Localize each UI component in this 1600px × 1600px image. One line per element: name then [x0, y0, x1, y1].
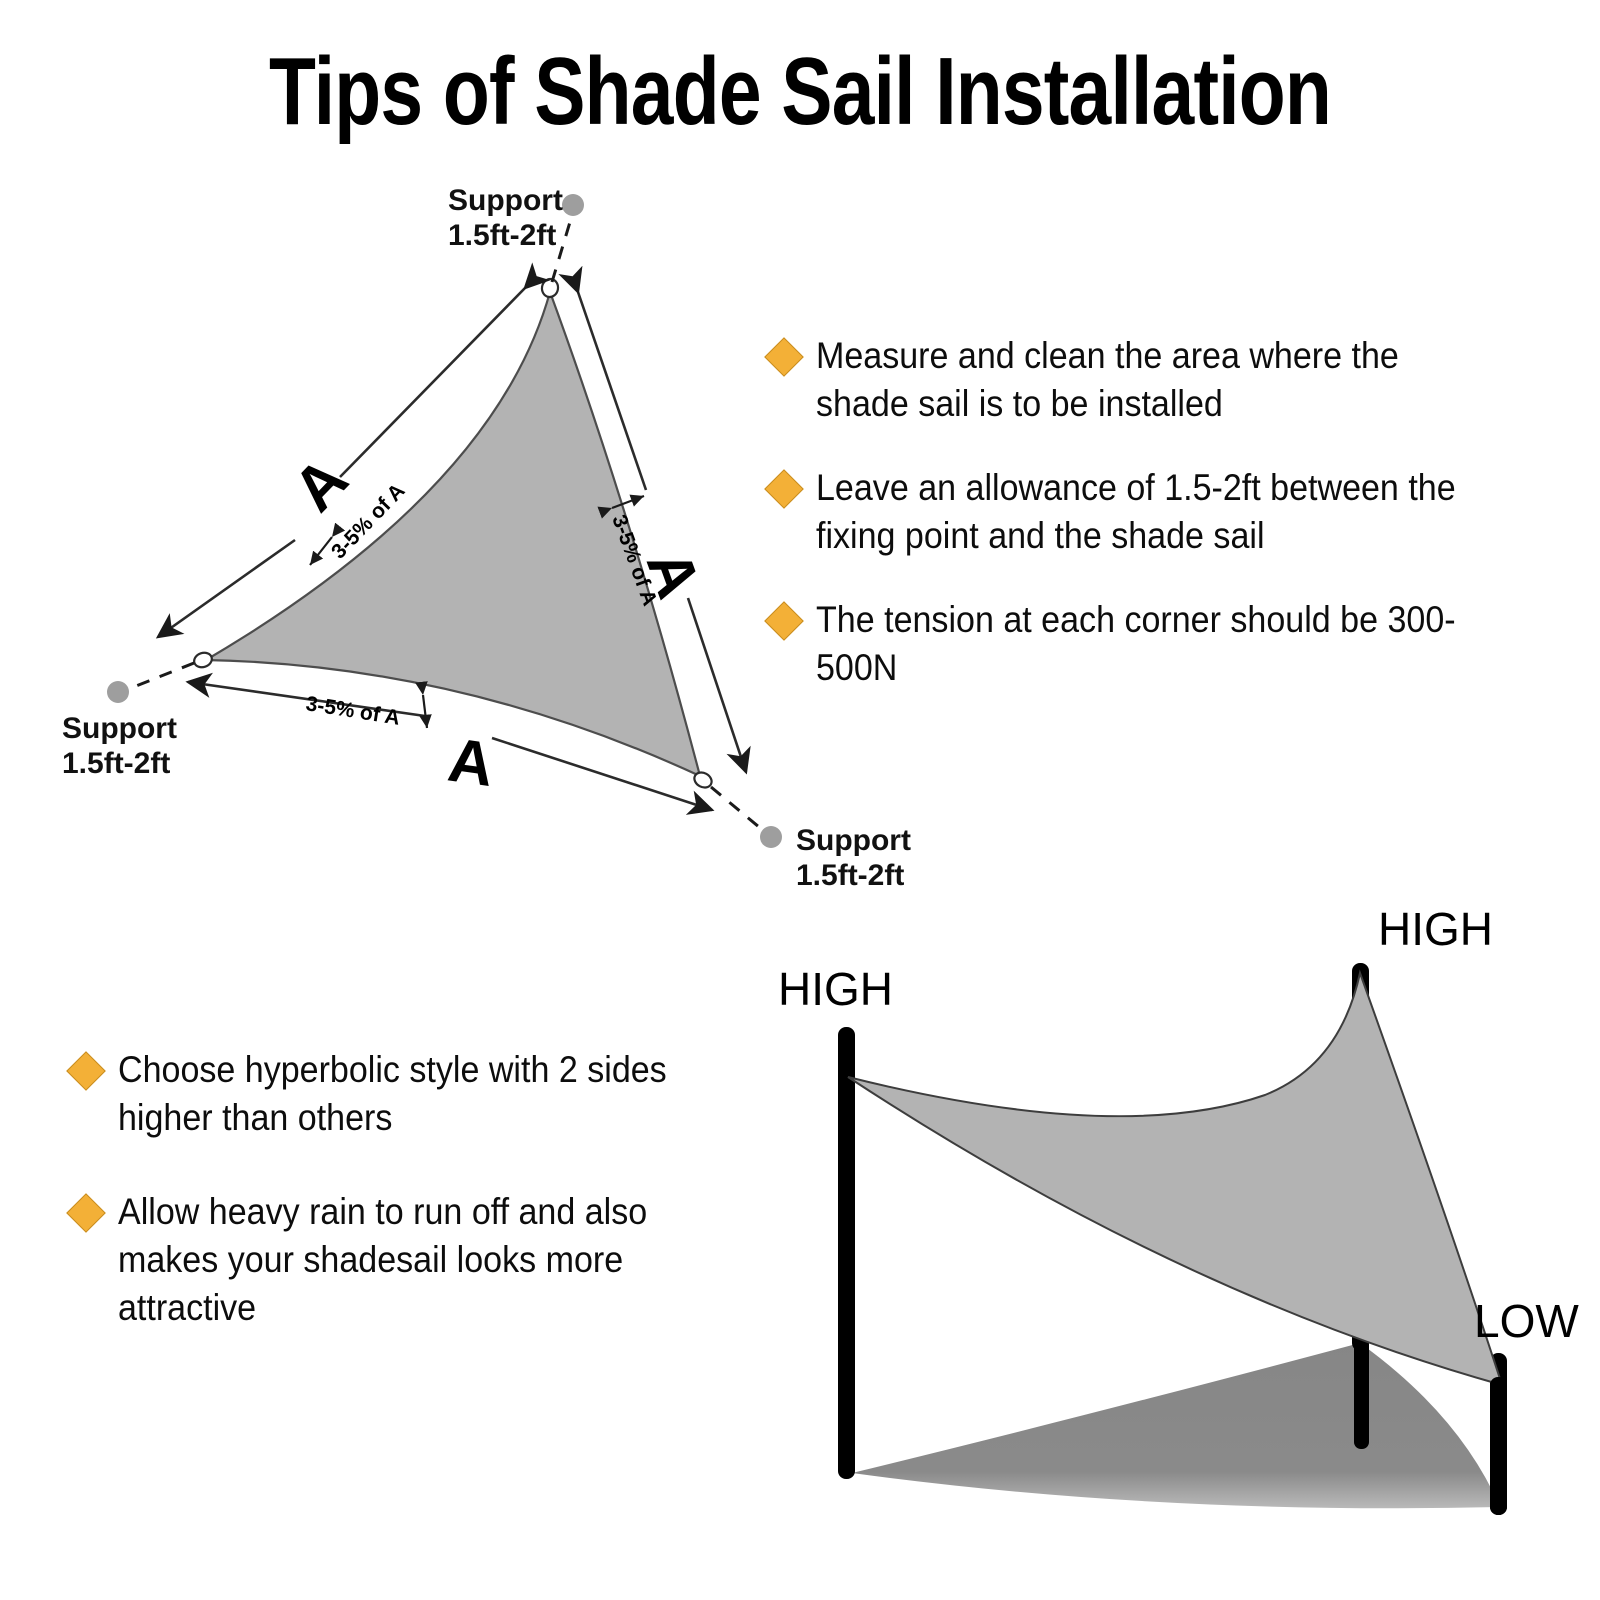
diamond-bullet-icon	[66, 1193, 106, 1233]
support-bottom-line1: Support	[796, 824, 911, 857]
support-dot-bottom	[760, 826, 782, 848]
post-label-high-right: HIGH	[1378, 903, 1493, 955]
tips-list-right: Measure and clean the area where the sha…	[770, 332, 1530, 729]
post-label-high-left: HIGH	[778, 963, 893, 1015]
corner-fitting-top	[541, 278, 560, 299]
dim-right-arrow-lower	[688, 598, 746, 772]
support-top-line1: Support	[448, 184, 563, 217]
infographic-page: Tips of Shade Sail Installation	[0, 0, 1600, 1600]
dim-left-label-A: A	[280, 445, 361, 525]
diamond-bullet-icon	[764, 337, 804, 377]
support-dot-top	[562, 194, 584, 216]
list-item: Allow heavy rain to run off and also mak…	[72, 1188, 772, 1332]
tip-text: Allow heavy rain to run off and also mak…	[118, 1188, 720, 1332]
diamond-bullet-icon	[66, 1051, 106, 1091]
diamond-bullet-icon	[764, 602, 804, 642]
support-left-line2: 1.5ft-2ft	[62, 747, 170, 780]
list-item: Choose hyperbolic style with 2 sides hig…	[72, 1046, 772, 1142]
sail-ground-shadow	[852, 1343, 1500, 1508]
support-label-left: Support 1.5ft-2ft	[62, 712, 177, 780]
tip-text: Leave an allowance of 1.5-2ft between th…	[816, 464, 1473, 560]
post-left-high	[838, 1027, 855, 1479]
diamond-bullet-icon	[764, 469, 804, 509]
support-label-top: Support 1.5ft-2ft	[448, 184, 563, 252]
list-item: Leave an allowance of 1.5-2ft between th…	[770, 464, 1530, 560]
list-item: Measure and clean the area where the sha…	[770, 332, 1530, 428]
hyperbolic-sail-surface	[848, 973, 1502, 1385]
support-label-bottom: Support 1.5ft-2ft	[796, 824, 911, 892]
page-title: Tips of Shade Sail Installation	[160, 44, 1440, 140]
tip-text: The tension at each corner should be 300…	[816, 596, 1473, 692]
list-item: The tension at each corner should be 300…	[770, 596, 1530, 692]
dim-left-offset-arrow	[310, 537, 332, 565]
support-top-line2: 1.5ft-2ft	[448, 219, 556, 252]
post-label-low: LOW	[1474, 1295, 1579, 1347]
support-dot-left	[107, 681, 129, 703]
tip-text: Measure and clean the area where the sha…	[816, 332, 1473, 428]
tip-text: Choose hyperbolic style with 2 sides hig…	[118, 1046, 720, 1142]
support-left-line1: Support	[62, 712, 177, 745]
hyperbolic-sail-diagram: HIGH HIGH LOW	[760, 895, 1580, 1535]
dim-bottom-label-A: A	[444, 726, 498, 801]
support-bottom-line2: 1.5ft-2ft	[796, 859, 904, 892]
corner-fitting-left	[192, 651, 213, 670]
dim-bottom-offset-arrow	[423, 695, 427, 728]
post-front-right-low-front	[1490, 1377, 1507, 1515]
dim-bottom-offset-text: 3-5% of A	[304, 692, 401, 730]
connector-bottom	[711, 787, 765, 832]
connector-left	[126, 663, 194, 690]
tips-list-left: Choose hyperbolic style with 2 sides hig…	[72, 1046, 772, 1378]
